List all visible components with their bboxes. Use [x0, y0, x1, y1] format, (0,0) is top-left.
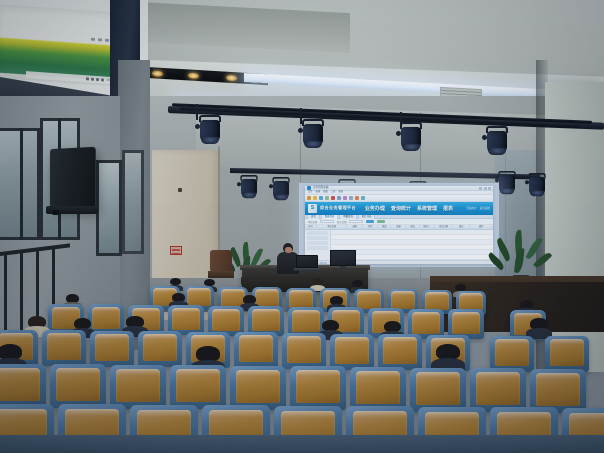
auditorium-seat — [42, 330, 86, 366]
window-pane — [96, 160, 122, 256]
corner-display-taskbar: 15:08 — [26, 71, 116, 84]
col-amount: 金额 — [391, 225, 406, 230]
corner-display-toolbar — [52, 34, 116, 43]
settings-icon[interactable] — [355, 196, 359, 200]
col-index: 序号 — [305, 225, 317, 230]
stage-spotlight — [398, 122, 424, 152]
auditorium-seat — [282, 333, 326, 369]
tree-item[interactable] — [307, 241, 328, 245]
tree-item[interactable] — [307, 246, 328, 250]
corner-display-screen: 15:08 — [0, 4, 120, 87]
stage-spotlight — [239, 175, 260, 199]
auditorium-seat — [470, 368, 526, 412]
presenter-laptop — [296, 255, 318, 271]
maximize-icon[interactable] — [484, 187, 487, 190]
system-name: 综合业务管理平台 — [320, 205, 356, 211]
menu-item-file[interactable]: 文件 — [308, 191, 313, 193]
filter-label-date: 统计日期 — [337, 220, 346, 224]
stage-spotlight — [197, 115, 223, 145]
stage-spotlight — [497, 171, 518, 195]
nav-tab-system[interactable]: 系统管理 — [417, 205, 437, 212]
conference-hall-photo: 15:08 — [0, 0, 604, 453]
filter-input-date[interactable] — [349, 220, 363, 224]
speaker-bolt — [52, 210, 59, 215]
menu-item-edit[interactable]: 编辑 — [316, 191, 321, 193]
export-icon[interactable] — [337, 196, 341, 200]
auditorium-seat — [234, 332, 278, 368]
query-button[interactable] — [366, 220, 374, 224]
col-handler: 经办人 — [420, 225, 435, 230]
save-icon[interactable] — [319, 196, 323, 200]
tree-item[interactable] — [307, 236, 328, 240]
audience-person — [312, 278, 323, 290]
downlight-icon — [188, 72, 199, 79]
reset-button[interactable] — [377, 220, 385, 224]
col-code: 编码 — [347, 225, 363, 230]
auditorium-seat — [0, 364, 46, 408]
auditorium-seat — [410, 368, 466, 412]
app-brand-band: S 综合业务管理平台 业务办理 查询统计 系统管理 报表 当前用户 退出系统 — [305, 202, 493, 215]
menu-item-tools[interactable]: 工具 — [331, 191, 336, 193]
corner-toolbar-icon — [91, 38, 95, 41]
exit-notice-sign — [170, 246, 182, 255]
presenter-monitor — [330, 250, 356, 269]
auditorium-seat — [290, 366, 346, 410]
auditorium-seat — [138, 331, 182, 367]
battery-icon — [96, 78, 99, 81]
filter-input-unit[interactable] — [320, 220, 334, 224]
col-date: 登记日期 — [435, 225, 454, 230]
auditorium-seat — [350, 367, 406, 411]
auditorium-seat — [110, 365, 166, 409]
tree-item[interactable] — [307, 231, 328, 235]
app-logo-icon — [307, 186, 311, 190]
auditorium-seat — [545, 336, 589, 372]
search-icon[interactable] — [343, 196, 347, 200]
wall-speaker — [50, 147, 96, 211]
window-controls[interactable] — [479, 187, 491, 190]
open-icon[interactable] — [313, 196, 317, 200]
auditorium-seat — [50, 364, 106, 408]
new-icon[interactable] — [307, 196, 311, 200]
logout-button[interactable]: 退出系统 — [480, 206, 490, 210]
downlight-icon — [226, 74, 237, 81]
nav-tab-business[interactable]: 业务办理 — [365, 205, 385, 212]
auditorium-seat — [490, 336, 534, 372]
auditorium-seat — [90, 331, 134, 367]
col-unit: 单位名称 — [317, 225, 347, 230]
col-remark: 备注 — [453, 225, 470, 230]
audience-person — [436, 344, 460, 369]
downlight-icon — [152, 70, 163, 77]
menu-item-help[interactable]: 帮助 — [338, 191, 343, 193]
audience-person — [530, 318, 548, 337]
help-icon[interactable] — [361, 196, 365, 200]
window-mullion — [20, 128, 23, 240]
col-action: 操作 — [470, 225, 493, 230]
col-status: 状态 — [406, 225, 419, 230]
auditorium-seat — [378, 334, 422, 370]
nav-tab-query[interactable]: 查询统计 — [391, 205, 411, 212]
network-icon — [86, 77, 89, 80]
corner-toolbar-icon — [98, 38, 102, 41]
brand-logo-icon: S — [308, 204, 317, 213]
col-type: 类型 — [363, 225, 378, 230]
menu-item-view[interactable]: 视图 — [323, 191, 328, 193]
close-icon[interactable] — [488, 187, 491, 190]
stage-spotlight — [484, 126, 510, 156]
app-window-title: 业务管理系统 — [313, 187, 329, 190]
auditorium-seat — [330, 334, 374, 370]
corner-toolbar-icon — [105, 39, 109, 42]
auditorium-seat — [230, 366, 286, 410]
print-icon[interactable] — [325, 196, 329, 200]
stage-spotlight — [271, 177, 292, 201]
minimize-icon[interactable] — [479, 187, 482, 190]
volume-icon — [91, 78, 94, 81]
brand-right-area[interactable]: 当前用户 退出系统 — [466, 206, 490, 210]
stage-spotlight — [527, 173, 548, 197]
col-quantity: 数量 — [378, 225, 391, 230]
filter-icon[interactable] — [349, 196, 353, 200]
panel-knob — [178, 188, 182, 192]
nav-tab-report[interactable]: 报表 — [443, 205, 453, 212]
input-method-icon — [101, 78, 104, 81]
projection-screen: 业务管理系统 文件 编辑 视图 工具 帮助 — [299, 183, 499, 267]
floor — [0, 435, 604, 453]
brand-nav[interactable]: 业务办理 查询统计 系统管理 报表 — [365, 205, 453, 212]
audience-seating — [0, 276, 604, 453]
window-pane — [122, 150, 144, 254]
current-user-label: 当前用户 — [466, 206, 476, 210]
filter-label-unit: 单位名称 — [308, 220, 317, 224]
auditorium-seat — [170, 365, 226, 409]
refresh-icon[interactable] — [331, 196, 335, 200]
stage-spotlight — [300, 119, 326, 149]
app-toolbar[interactable] — [305, 195, 493, 202]
